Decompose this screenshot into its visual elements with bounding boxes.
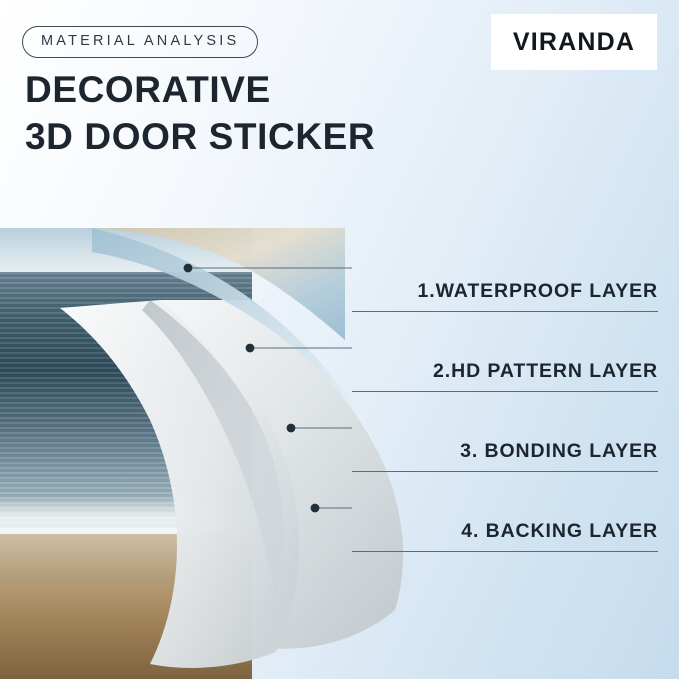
callout-row-1: 1.WATERPROOF LAYER (352, 232, 658, 312)
poster-canvas: MATERIAL ANALYSIS DECORATIVE 3D DOOR STI… (0, 0, 679, 679)
callout-row-2: 2.HD PATTERN LAYER (352, 312, 658, 392)
brand-name: VIRANDA (513, 28, 635, 57)
callout-label-2: 2.HD PATTERN LAYER (433, 360, 658, 383)
callout-row-3: 3. BONDING LAYER (352, 392, 658, 472)
page-title: DECORATIVE 3D DOOR STICKER (25, 66, 375, 161)
callout-label-1: 1.WATERPROOF LAYER (418, 280, 658, 303)
callout-label-3: 3. BONDING LAYER (460, 440, 658, 463)
callout-label-4: 4. BACKING LAYER (461, 520, 658, 543)
callout-label-list: 1.WATERPROOF LAYER 2.HD PATTERN LAYER 3.… (352, 232, 658, 552)
eyebrow-badge: MATERIAL ANALYSIS (22, 26, 258, 58)
callout-row-4: 4. BACKING LAYER (352, 472, 658, 552)
brand-logo-box: VIRANDA (491, 14, 657, 70)
callout-rule-4 (352, 551, 658, 552)
title-line-1: DECORATIVE (25, 66, 375, 113)
title-line-2: 3D DOOR STICKER (25, 113, 375, 160)
